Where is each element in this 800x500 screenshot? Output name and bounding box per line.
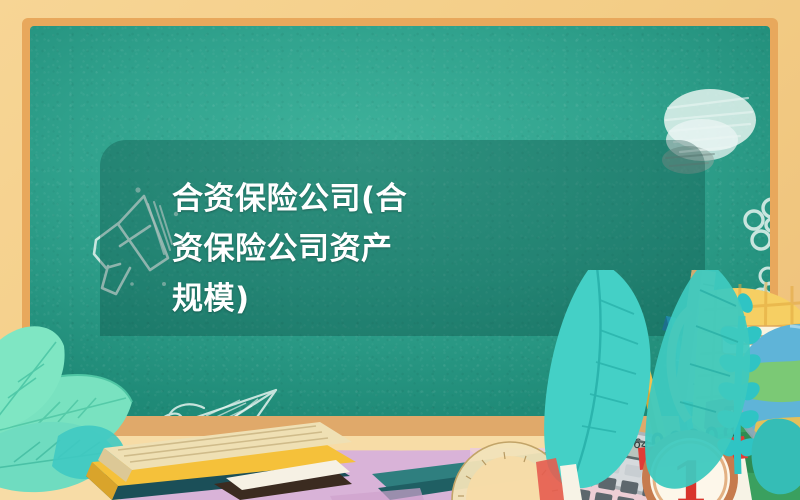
flower-icon-small	[748, 264, 770, 312]
banner-image: 合资保险公司(合资保险公司资产规模)	[0, 0, 800, 500]
flower-icon-large	[742, 194, 770, 254]
page-title: 合资保险公司(合资保险公司资产规模)	[172, 174, 422, 325]
paper-plane-icon	[148, 378, 298, 458]
